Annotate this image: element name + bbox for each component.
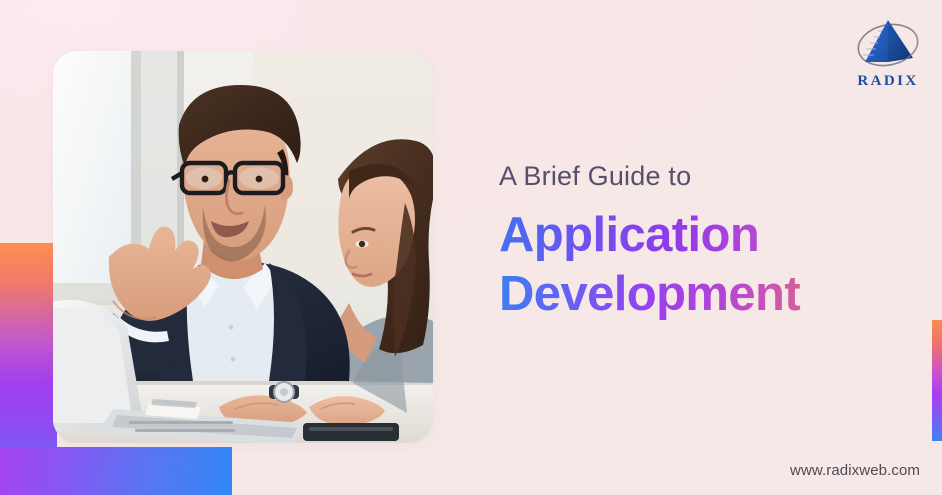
brand-name: RADIX: [845, 73, 931, 90]
hero-photo: [53, 51, 433, 443]
website-url[interactable]: www.radixweb.com: [790, 462, 920, 479]
gradient-accent-bottom-left: [0, 447, 232, 495]
radix-pyramid-logo-icon: [845, 14, 931, 72]
promo-banner: A Brief Guide to Application Development: [0, 0, 942, 495]
gradient-accent-right: [932, 320, 942, 441]
hero-headline-line-2: Development: [499, 266, 919, 323]
brand-logo[interactable]: RADIX: [845, 14, 931, 94]
hero-eyebrow: A Brief Guide to: [499, 160, 919, 194]
hero-copy: A Brief Guide to Application Development: [499, 160, 919, 323]
hero-headline-line-1: Application: [499, 207, 919, 264]
